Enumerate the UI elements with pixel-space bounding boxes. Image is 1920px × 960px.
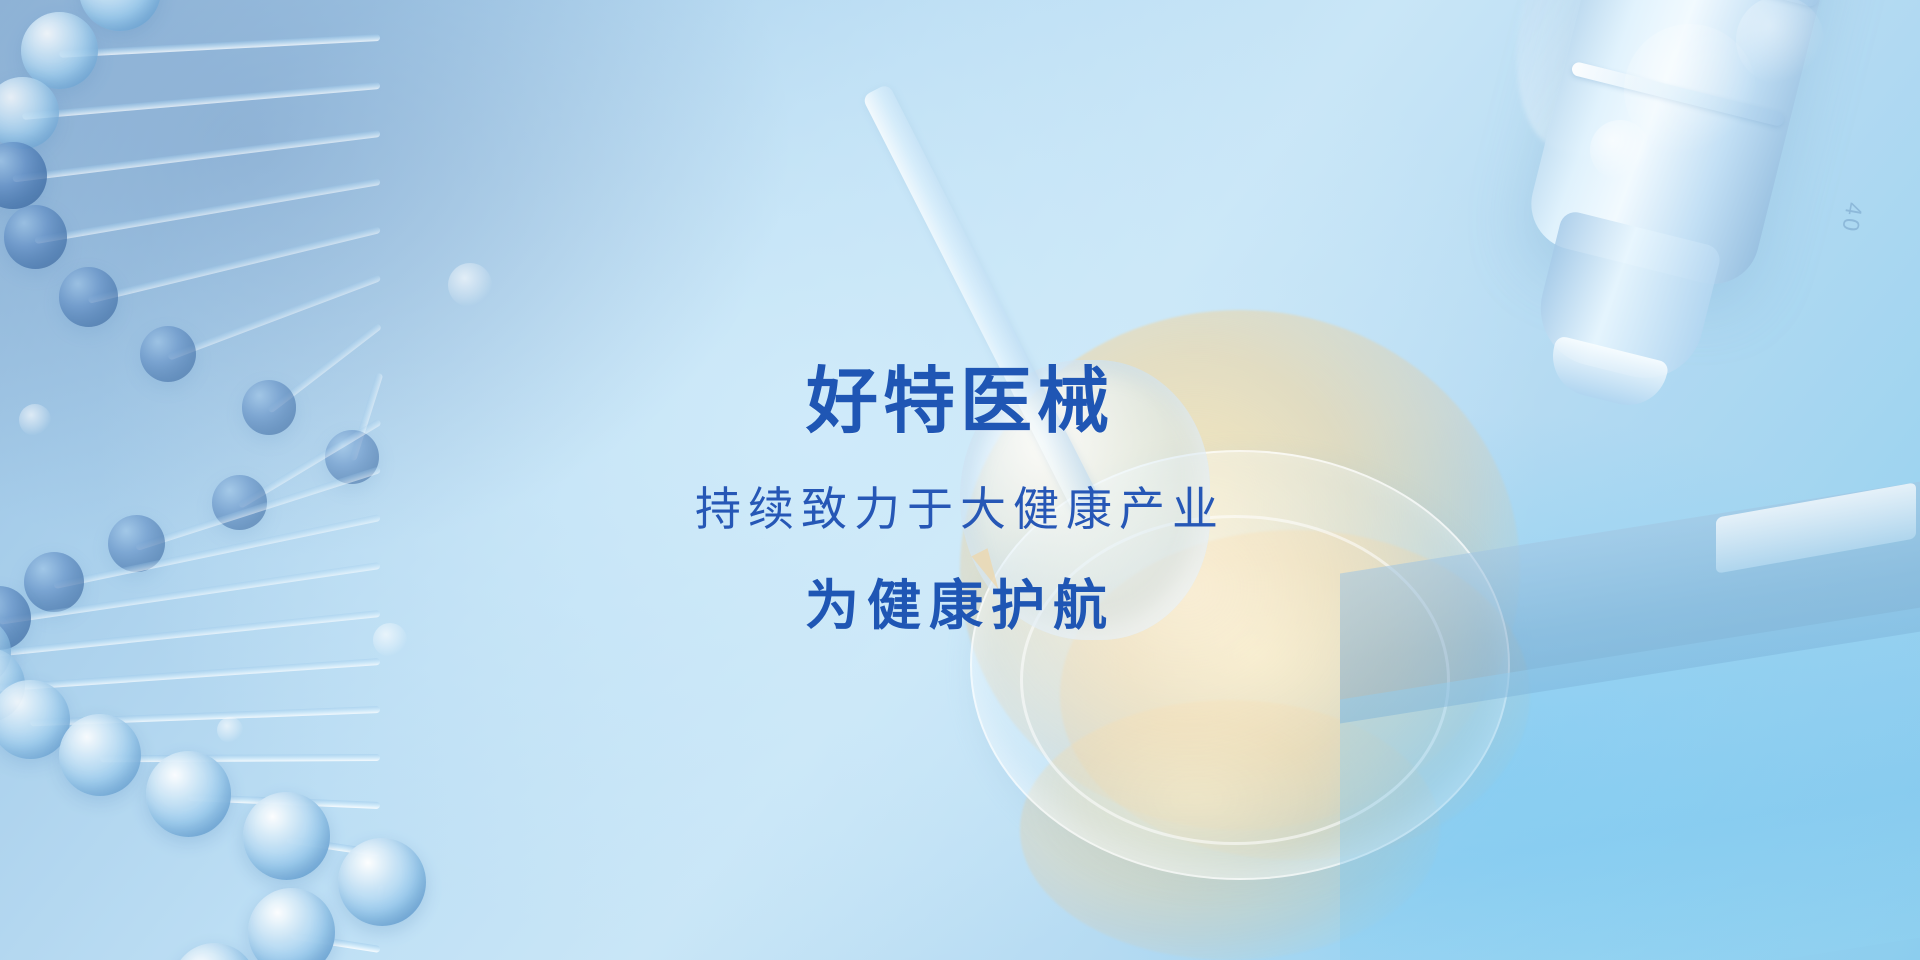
banner-subtitle: 持续致力于大健康产业 bbox=[695, 484, 1225, 535]
banner-tagline: 为健康护航 bbox=[695, 577, 1225, 636]
banner-headline: 好特医械 bbox=[695, 364, 1225, 440]
hero-banner: 40 好特医械 持续致力于大健康产业 为健康护航 bbox=[0, 0, 1920, 960]
banner-copy: 好特医械 持续致力于大健康产业 为健康护航 bbox=[0, 0, 1920, 960]
